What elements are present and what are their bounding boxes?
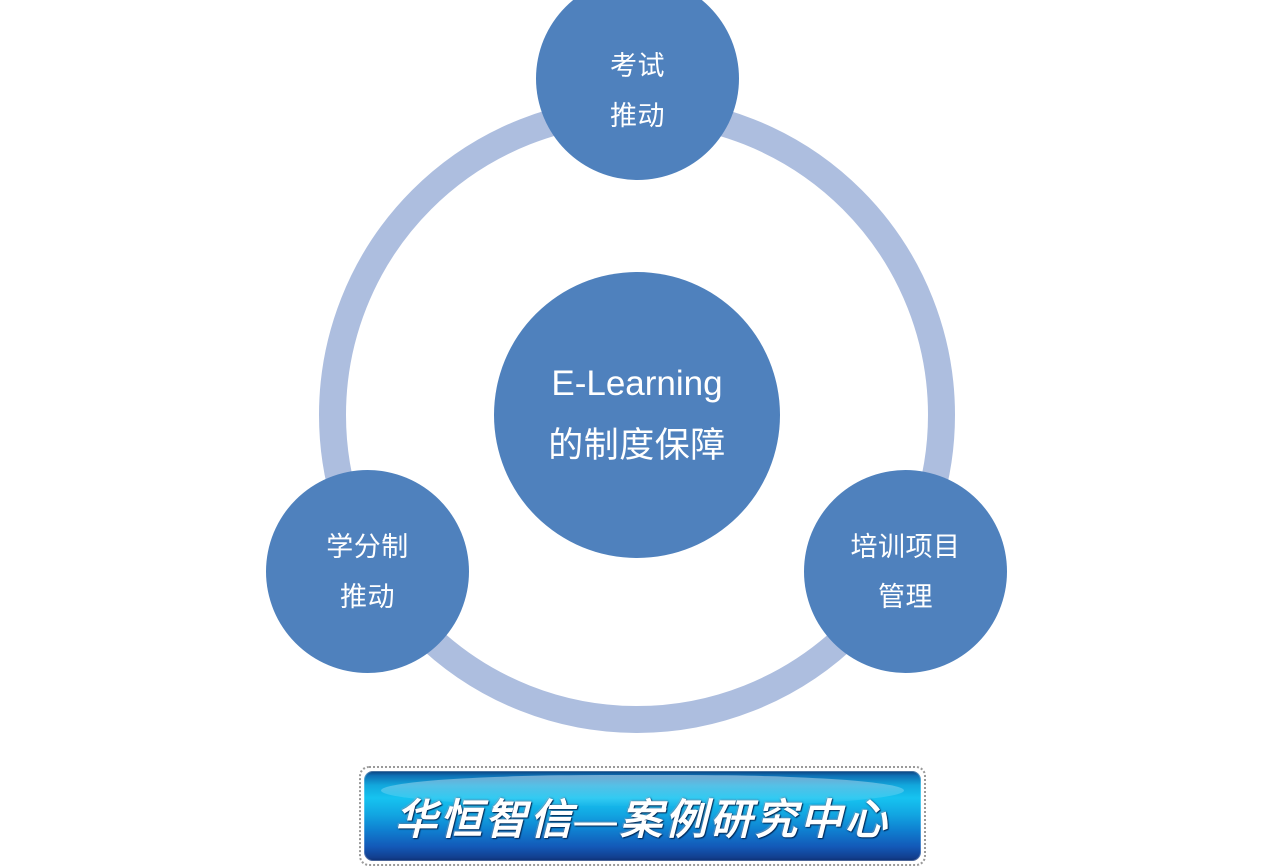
node-exam-promotion[interactable]: 考试 推动	[536, 0, 739, 180]
banner-text: 华恒智信—案例研究中心	[395, 786, 890, 847]
node-center-line-2: 的制度保障	[548, 415, 726, 477]
banner-selection-frame[interactable]: 华恒智信—案例研究中心	[359, 766, 926, 866]
node-right-line-2: 管理	[878, 572, 933, 622]
slide-canvas: 考试 推动 学分制 推动 培训项目 管理 E-Learning 的制度保障 华恒…	[0, 0, 1275, 868]
node-top-line-2: 推动	[610, 91, 665, 141]
node-left-line-1: 学分制	[326, 522, 409, 572]
node-left-line-2: 推动	[340, 572, 395, 622]
node-center-elearning[interactable]: E-Learning 的制度保障	[494, 272, 780, 558]
node-center-line-1: E-Learning	[551, 353, 722, 415]
node-training-project-management[interactable]: 培训项目 管理	[804, 470, 1007, 673]
node-right-line-1: 培训项目	[851, 522, 961, 572]
node-credit-system-promotion[interactable]: 学分制 推动	[266, 470, 469, 673]
node-top-line-1: 考试	[610, 41, 665, 91]
banner-watermark[interactable]: 华恒智信—案例研究中心	[364, 771, 921, 861]
